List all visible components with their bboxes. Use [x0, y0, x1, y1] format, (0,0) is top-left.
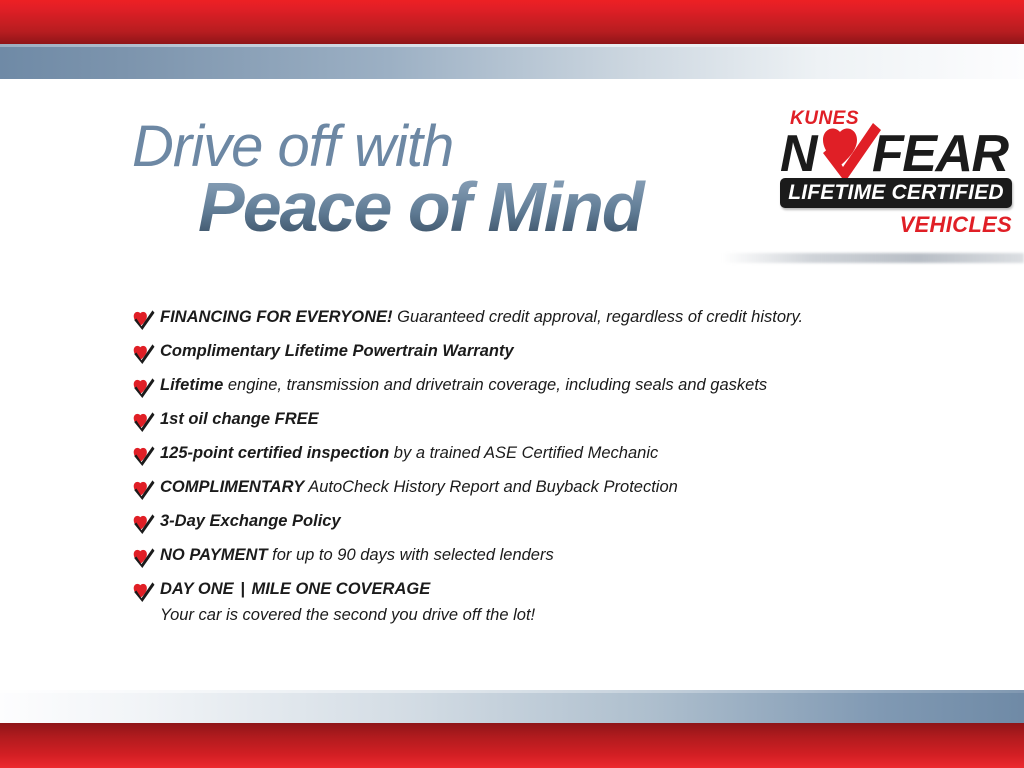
benefit-subtext: Your car is covered the second you drive…	[160, 606, 961, 625]
headline-block: Drive off with Peace of Mind	[132, 118, 772, 242]
benefit-bold: Lifetime	[160, 376, 223, 394]
top-gray-band	[0, 44, 1024, 79]
logo-word-vehicles: VEHICLES	[900, 212, 1012, 238]
benefit-bold-2: MILE ONE COVERAGE	[251, 580, 430, 598]
logo-divider	[722, 253, 1024, 263]
benefit-rest: for up to 90 days with selected lenders	[268, 546, 554, 564]
logo-certified-bar: LIFETIME CERTIFIED	[780, 178, 1012, 208]
kunes-no-fear-logo: KUNES N FEAR LIFETIME CERTIFIED VEHICLES	[778, 108, 1014, 244]
heart-check-icon	[131, 513, 155, 535]
benefit-text: 125-point certified inspection by a trai…	[160, 443, 658, 464]
benefit-bold: 125-point certified inspection	[160, 444, 389, 462]
benefit-item: 3-Day Exchange Policy	[131, 511, 961, 535]
benefit-rest: by a trained ASE Certified Mechanic	[389, 444, 658, 462]
top-red-band	[0, 0, 1024, 44]
benefit-bold: DAY ONE	[160, 580, 234, 598]
heart-check-icon	[131, 377, 155, 399]
benefit-text: Complimentary Lifetime Powertrain Warran…	[160, 341, 514, 362]
benefit-text: Lifetime engine, transmission and drivet…	[160, 375, 767, 396]
benefit-bold: FINANCING FOR EVERYONE!	[160, 308, 393, 326]
benefit-item: 125-point certified inspection by a trai…	[131, 443, 961, 467]
bottom-red-band	[0, 723, 1024, 768]
benefit-text: 3-Day Exchange Policy	[160, 511, 341, 532]
benefit-bold: 1st oil change FREE	[160, 410, 319, 428]
benefits-list: FINANCING FOR EVERYONE! Guaranteed credi…	[131, 307, 961, 635]
benefit-item: Complimentary Lifetime Powertrain Warran…	[131, 341, 961, 365]
benefit-text: NO PAYMENT for up to 90 days with select…	[160, 545, 554, 566]
benefit-text: FINANCING FOR EVERYONE! Guaranteed credi…	[160, 307, 803, 328]
headline-line-2: Peace of Mind	[198, 172, 772, 242]
heart-check-icon	[131, 581, 155, 603]
heart-check-icon	[131, 547, 155, 569]
benefit-item: COMPLIMENTARY AutoCheck History Report a…	[131, 477, 961, 501]
logo-certified-text: LIFETIME CERTIFIED	[780, 182, 1012, 204]
heart-check-icon	[131, 411, 155, 433]
logo-letter-n: N	[780, 128, 816, 180]
benefit-rest: AutoCheck History Report and Buyback Pro…	[304, 478, 678, 496]
heart-check-icon	[131, 445, 155, 467]
benefit-item: DAY ONE | MILE ONE COVERAGE	[131, 579, 961, 603]
benefit-item: FINANCING FOR EVERYONE! Guaranteed credi…	[131, 307, 961, 331]
benefit-rest: Guaranteed credit approval, regardless o…	[393, 308, 804, 326]
benefit-text: COMPLIMENTARY AutoCheck History Report a…	[160, 477, 678, 498]
benefit-bold: Complimentary Lifetime Powertrain Warran…	[160, 342, 514, 360]
benefit-separator: |	[234, 580, 252, 598]
bottom-gray-band	[0, 690, 1024, 723]
benefit-bold: NO PAYMENT	[160, 546, 268, 564]
benefit-item: 1st oil change FREE	[131, 409, 961, 433]
benefit-bold: COMPLIMENTARY	[160, 478, 304, 496]
benefit-text: DAY ONE | MILE ONE COVERAGE	[160, 579, 430, 600]
benefit-rest: engine, transmission and drivetrain cove…	[223, 376, 767, 394]
logo-word-fear: FEAR	[872, 128, 1008, 180]
benefit-bold: 3-Day Exchange Policy	[160, 512, 341, 530]
promo-banner: Drive off with Peace of Mind KUNES N FEA…	[0, 0, 1024, 768]
benefit-item: NO PAYMENT for up to 90 days with select…	[131, 545, 961, 569]
heart-check-icon	[131, 343, 155, 365]
logo-wordmark: N FEAR	[780, 126, 1014, 180]
heart-check-icon	[131, 479, 155, 501]
heart-check-icon	[131, 309, 155, 331]
benefit-item: Lifetime engine, transmission and drivet…	[131, 375, 961, 399]
benefit-text: 1st oil change FREE	[160, 409, 319, 430]
